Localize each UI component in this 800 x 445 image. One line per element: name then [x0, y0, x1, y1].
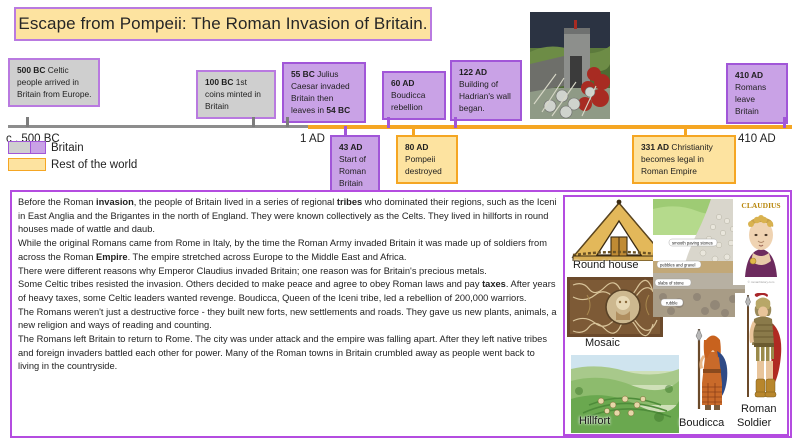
event-box-pompeii-destroyed[interactable]: 80 AD Pompeii destroyed	[396, 135, 458, 184]
event-box-roman-britain-starts[interactable]: 43 AD Start of Roman Britain	[330, 135, 380, 196]
picture-collage: Round house	[563, 195, 789, 436]
axis-label-end: 410 AD	[738, 133, 776, 145]
event-text-pompeii-destroyed: Pompeii destroyed	[405, 154, 442, 176]
event-year-first-coins: 100 BC	[205, 77, 233, 87]
hadrians-wall-image	[530, 12, 610, 119]
body-text: Before the Roman invasion, the people of…	[18, 196, 558, 374]
event-box-celts-arrive[interactable]: 500 BC Celtic people arrived in Britain …	[8, 58, 100, 107]
claudius-image: CLAUDIUS	[733, 199, 789, 285]
event-box-boudicca-rebellion[interactable]: 60 AD Boudicca rebellion	[382, 71, 446, 120]
axis-label-mid: 1 AD	[300, 133, 325, 145]
legend-swatch-britain-purple	[30, 141, 46, 154]
svg-text:pebbles and gravel: pebbles and gravel	[660, 262, 695, 267]
event-box-romans-leave[interactable]: 410 AD Romans leave Britain	[726, 63, 788, 124]
body-panel: Before the Roman invasion, the people of…	[10, 190, 792, 438]
event-year-boudicca-rebellion: 60 AD	[391, 78, 414, 88]
event-year-pompeii-destroyed: 80 AD	[405, 142, 428, 152]
caption-boudicca: Boudicca	[679, 417, 724, 429]
event-box-first-coins[interactable]: 100 BC 1st coins minted in Britain	[196, 70, 276, 119]
svg-text:smooth paving stones: smooth paving stones	[672, 240, 713, 245]
event-stem-christianity-legal	[684, 126, 687, 137]
event-year-caesar-invades: 55 BC	[291, 69, 315, 79]
event-stem-roman-britain-starts	[344, 126, 347, 137]
body-paragraph-p1: Before the Roman invasion, the people of…	[18, 196, 558, 237]
poster-root: Escape from Pompeii: The Roman Invasion …	[0, 0, 800, 445]
event-stem-pompeii-destroyed	[412, 126, 415, 137]
event-year-celts-arrive: 500 BC	[17, 65, 45, 75]
mosaic-image	[567, 277, 663, 337]
roman-soldier-image	[735, 293, 789, 409]
svg-text:slabs of stone: slabs of stone	[658, 280, 685, 285]
legend-label-britain: Britain	[51, 142, 84, 154]
event-box-christianity-legal[interactable]: 331 AD Christianity becomes legal in Rom…	[632, 135, 736, 184]
event-stem-celts-arrive	[26, 117, 29, 127]
event-box-hadrians-wall[interactable]: 122 AD Building of Hadrian's wall began.	[450, 60, 522, 121]
event-text-hadrians-wall: Building of Hadrian's wall began.	[459, 79, 511, 113]
event-text-boudicca-rebellion: Boudicca rebellion	[391, 90, 425, 112]
event-stem-boudicca-rebellion	[387, 117, 390, 128]
event-year2-caesar-invades: 54 BC	[326, 105, 350, 115]
legend: Britain Rest of the world	[8, 140, 137, 174]
caption-roman-soldier-line2: Soldier	[737, 417, 771, 429]
event-text-roman-britain-starts: Start of Roman Britain	[339, 154, 366, 188]
legend-label-rest: Rest of the world	[51, 159, 137, 171]
page-title: Escape from Pompeii: The Roman Invasion …	[14, 7, 432, 41]
event-stem-romans-leave	[783, 117, 786, 128]
body-paragraph-p6: The Romans left Britain to return to Rom…	[18, 333, 558, 374]
body-paragraph-p5: The Romans weren't just a destructive fo…	[18, 306, 558, 333]
event-box-caesar-invades[interactable]: 55 BC Julius Caesar invaded Britain then…	[282, 62, 366, 123]
caption-mosaic: Mosaic	[585, 337, 620, 349]
body-paragraph-p4: Some Celtic tribes resisted the invasion…	[18, 278, 558, 305]
timeline-axis-ad	[308, 125, 792, 129]
timeline-axis-bc	[8, 125, 308, 128]
event-stem-caesar-invades	[286, 117, 289, 127]
caption-roman-soldier-line1: Roman	[741, 403, 776, 415]
roman-road-image: smooth paving stones pebbles and gravel …	[653, 199, 745, 317]
body-paragraph-p3: There were different reasons why Emperor…	[18, 265, 558, 279]
event-year-christianity-legal: 331 AD	[641, 142, 669, 152]
legend-swatch-britain-grey	[8, 141, 30, 154]
body-paragraph-p2: While the original Romans came from Rome…	[18, 237, 558, 264]
event-year-hadrians-wall: 122 AD	[459, 67, 487, 77]
boudicca-image	[683, 325, 741, 417]
svg-text:© romanhistory.com: © romanhistory.com	[748, 280, 775, 284]
event-stem-first-coins	[252, 117, 255, 127]
caption-round-house: Round house	[573, 259, 638, 271]
event-text-romans-leave: Romans leave Britain	[735, 82, 766, 116]
legend-row-britain: Britain	[8, 140, 137, 155]
svg-text:rubble: rubble	[666, 300, 678, 305]
svg-text:CLAUDIUS: CLAUDIUS	[741, 201, 780, 210]
event-year-roman-britain-starts: 43 AD	[339, 142, 362, 152]
event-year-romans-leave: 410 AD	[735, 70, 763, 80]
legend-row-rest: Rest of the world	[8, 157, 137, 172]
legend-swatch-rest-orange	[8, 158, 46, 171]
event-stem-hadrians-wall	[454, 117, 457, 128]
caption-hillfort: Hillfort	[579, 415, 610, 427]
